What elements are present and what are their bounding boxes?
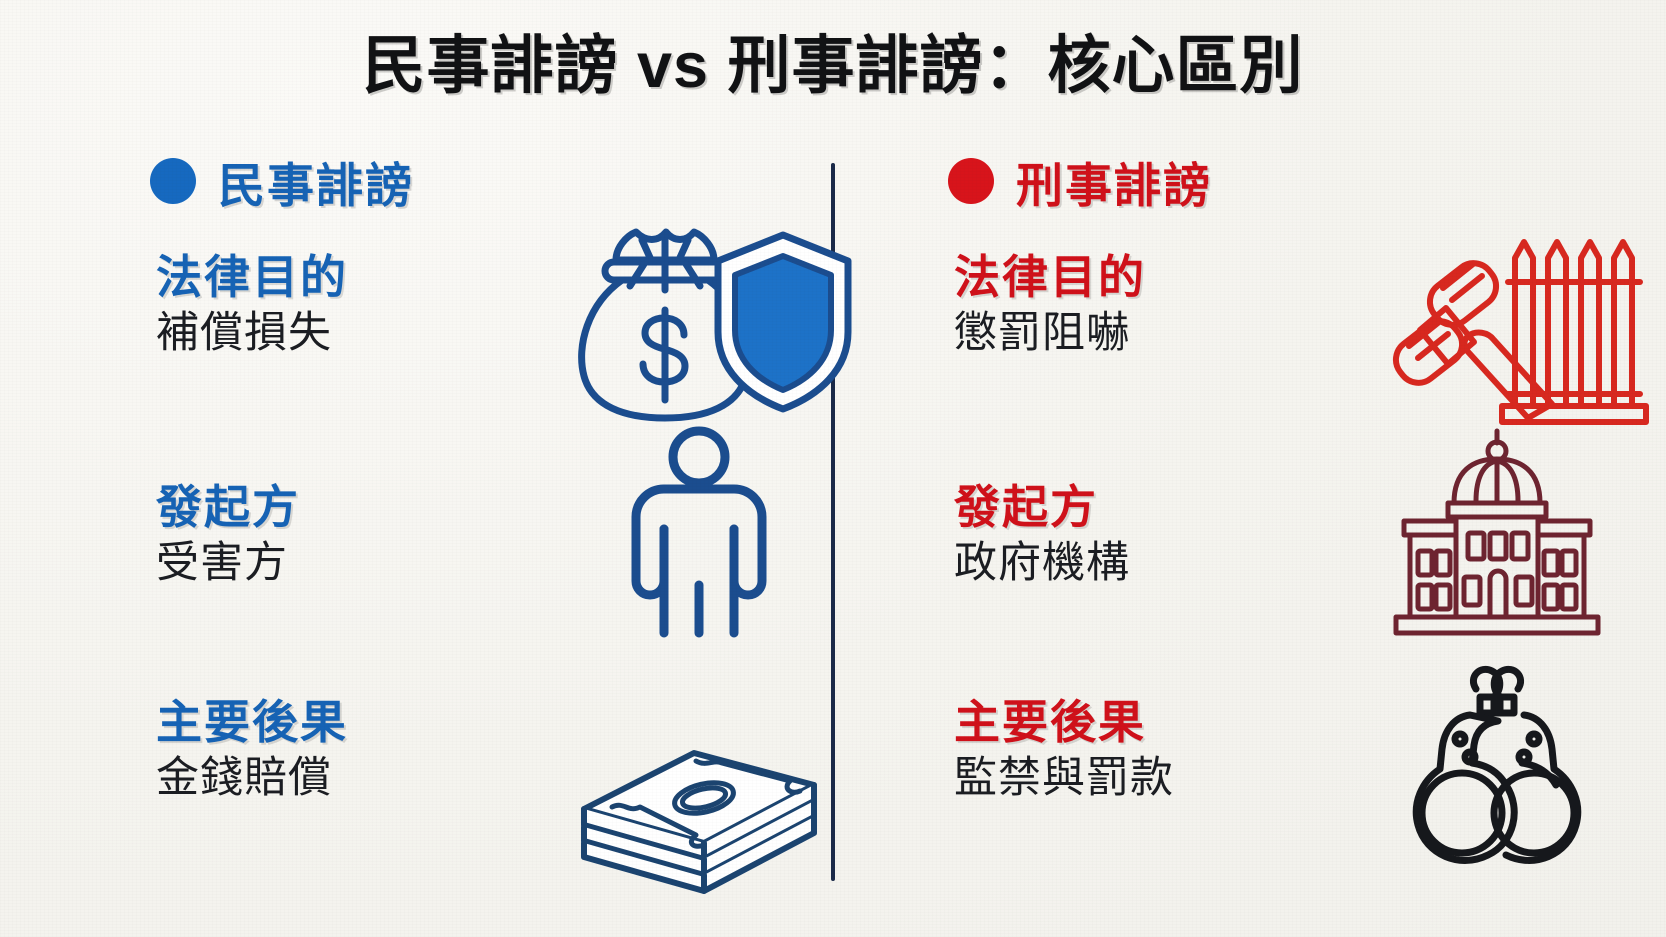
- gavel-and-prison-bars-icon: [1352, 212, 1642, 427]
- column-header-criminal: 刑事誹謗: [948, 150, 1666, 212]
- row-label: 法律目的: [954, 250, 1284, 304]
- page-title: 民事誹謗 vs 刑事誹謗：核心區別: [0, 32, 1666, 100]
- row-legal-purpose-civil: 法律目的 補償損失: [150, 250, 870, 450]
- infographic-canvas: 民事誹謗 vs 刑事誹謗：核心區別 民事誹謗 法律目的 補償損失: [0, 0, 1666, 937]
- column-header-label: 民事誹謗: [218, 147, 414, 216]
- government-building-icon: [1352, 425, 1642, 640]
- money-bag-and-shield-icon: [554, 212, 844, 427]
- blue-circle-bullet-icon: [150, 158, 196, 204]
- red-circle-bullet-icon: [948, 158, 994, 204]
- row-label: 主要後果: [954, 695, 1284, 749]
- row-text: 發起方 受害方: [156, 480, 486, 590]
- row-value: 懲罰阻嚇: [954, 308, 1284, 360]
- row-text: 主要後果 監禁與罰款: [954, 695, 1284, 805]
- column-header-label: 刑事誹謗: [1016, 147, 1212, 216]
- row-text: 法律目的 懲罰阻嚇: [954, 250, 1284, 360]
- row-value: 監禁與罰款: [954, 753, 1284, 805]
- column-civil: 民事誹謗 法律目的 補償損失: [150, 150, 870, 910]
- row-label: 發起方: [954, 480, 1284, 534]
- row-main-consequence-criminal: 主要後果 監禁與罰款: [948, 695, 1666, 895]
- row-main-consequence-civil: 主要後果 金錢賠償: [150, 695, 870, 895]
- row-label: 發起方: [156, 480, 486, 534]
- row-text: 發起方 政府機構: [954, 480, 1284, 590]
- row-value: 政府機構: [954, 538, 1284, 590]
- person-figure-icon: [554, 425, 844, 640]
- column-header-civil: 民事誹謗: [150, 150, 870, 212]
- row-initiator-criminal: 發起方 政府機構: [948, 480, 1666, 680]
- row-legal-purpose-criminal: 法律目的 懲罰阻嚇: [948, 250, 1666, 450]
- row-value: 補償損失: [156, 308, 486, 360]
- row-value: 金錢賠償: [156, 753, 486, 805]
- cash-stack-icon: [554, 657, 844, 872]
- row-label: 主要後果: [156, 695, 486, 749]
- column-criminal: 刑事誹謗 法律目的 懲罰阻嚇: [948, 150, 1666, 910]
- row-value: 受害方: [156, 538, 486, 590]
- row-initiator-civil: 發起方 受害方: [150, 480, 870, 680]
- handcuffs-icon: [1352, 657, 1642, 872]
- row-label: 法律目的: [156, 250, 486, 304]
- row-text: 主要後果 金錢賠償: [156, 695, 486, 805]
- row-text: 法律目的 補償損失: [156, 250, 486, 360]
